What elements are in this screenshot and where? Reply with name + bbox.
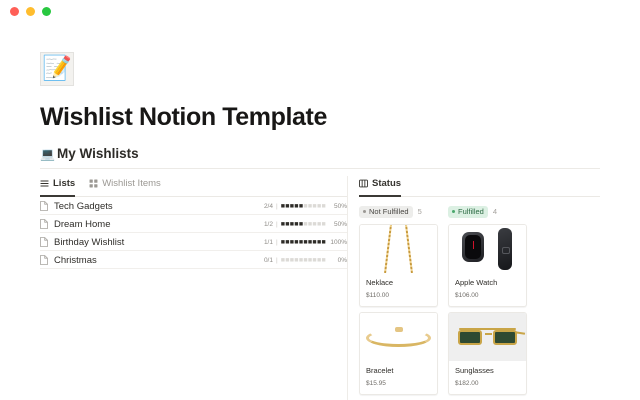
card-title: Neklace bbox=[366, 278, 431, 287]
progress-percent: 100% bbox=[329, 239, 347, 246]
page-content: 📝 Wishlist Notion Template 💻 My Wishlist… bbox=[0, 52, 640, 400]
product-illustration bbox=[449, 313, 526, 361]
board-card[interactable]: Apple Watch$106.00 bbox=[448, 224, 527, 307]
board-column-header[interactable]: Fulfilled4 bbox=[448, 205, 527, 218]
progress-separator: | bbox=[276, 239, 278, 246]
lists-tabbar: Lists Wishlist Items bbox=[40, 178, 347, 197]
product-illustration bbox=[360, 313, 437, 361]
page-doc-icon bbox=[40, 237, 54, 247]
progress-separator: | bbox=[276, 203, 278, 210]
status-badge: Not Fulfilled bbox=[359, 206, 413, 218]
table-row[interactable]: Dream Home1/2|■■■■■■■■■■50% bbox=[40, 219, 347, 233]
card-price: $15.95 bbox=[366, 380, 431, 387]
progress-fraction: 1/2 bbox=[259, 221, 273, 228]
card-body: Neklace$110.00 bbox=[360, 273, 437, 306]
card-price: $106.00 bbox=[455, 292, 520, 299]
progress-bar: ■■■■■■■■■■ bbox=[281, 239, 326, 246]
list-item-label: Birthday Wishlist bbox=[54, 237, 259, 248]
table-row[interactable]: Birthday Wishlist1/1|■■■■■■■■■■100% bbox=[40, 237, 347, 251]
progress-percent: 50% bbox=[329, 221, 347, 228]
card-image bbox=[360, 313, 437, 361]
tab-wishlist-items[interactable]: Wishlist Items bbox=[89, 178, 161, 192]
page-doc-icon bbox=[40, 219, 54, 229]
maximize-button[interactable] bbox=[42, 7, 51, 16]
card-image bbox=[449, 313, 526, 361]
card-price: $182.00 bbox=[455, 380, 520, 387]
list-item-label: Christmas bbox=[54, 255, 259, 266]
table-row[interactable]: Christmas0/1|■■■■■■■■■■0% bbox=[40, 255, 347, 269]
progress-fraction: 2/4 bbox=[259, 203, 273, 210]
progress-meta: 0/1|■■■■■■■■■■0% bbox=[259, 257, 347, 264]
progress-bar: ■■■■■■■■■■ bbox=[281, 257, 326, 264]
board-card[interactable]: Neklace$110.00 bbox=[359, 224, 438, 307]
tab-lists-label: Lists bbox=[53, 178, 75, 189]
board-card[interactable]: Sunglasses$182.00 bbox=[448, 312, 527, 395]
list-item-label: Tech Gadgets bbox=[54, 201, 259, 212]
page-emoji-icon[interactable]: 📝 bbox=[40, 52, 74, 86]
card-title: Sunglasses bbox=[455, 366, 520, 375]
board-column-count: 4 bbox=[493, 207, 497, 216]
tab-status-label: Status bbox=[372, 178, 401, 189]
lists-panel: Lists Wishlist Items bbox=[40, 178, 347, 400]
page-title: Wishlist Notion Template bbox=[40, 103, 600, 132]
status-panel: Status Not Fulfilled5Neklace$110.00Brace… bbox=[347, 178, 600, 400]
progress-separator: | bbox=[276, 257, 278, 264]
progress-fraction: 1/1 bbox=[259, 239, 273, 246]
progress-bar: ■■■■■■■■■■ bbox=[281, 203, 326, 210]
board-card-list: Apple Watch$106.00Sunglasses$182.00 bbox=[448, 224, 527, 400]
tab-status[interactable]: Status bbox=[359, 178, 401, 192]
tab-lists[interactable]: Lists bbox=[40, 178, 75, 192]
status-dot-icon bbox=[363, 210, 366, 213]
progress-percent: 0% bbox=[329, 257, 347, 264]
board-card[interactable]: Bracelet$15.95 bbox=[359, 312, 438, 395]
board-column: Fulfilled4Apple Watch$106.00Sunglasses$1… bbox=[448, 205, 527, 400]
status-tabbar: Status bbox=[359, 178, 600, 197]
progress-bar: ■■■■■■■■■■ bbox=[281, 221, 326, 228]
status-badge-label: Fulfilled bbox=[458, 207, 484, 216]
page-doc-icon bbox=[40, 255, 54, 265]
card-title: Apple Watch bbox=[455, 278, 520, 287]
status-badge: Fulfilled bbox=[448, 206, 488, 218]
board-column-count: 5 bbox=[418, 207, 422, 216]
card-price: $110.00 bbox=[366, 292, 431, 299]
section-heading-label: My Wishlists bbox=[57, 146, 139, 161]
product-illustration bbox=[360, 225, 437, 273]
card-body: Bracelet$15.95 bbox=[360, 361, 437, 394]
card-title: Bracelet bbox=[366, 366, 431, 375]
card-body: Sunglasses$182.00 bbox=[449, 361, 526, 394]
list-item-label: Dream Home bbox=[54, 219, 259, 230]
list-icon bbox=[40, 179, 49, 188]
card-image bbox=[360, 225, 437, 273]
card-image bbox=[449, 225, 526, 273]
table-row[interactable]: Tech Gadgets2/4|■■■■■■■■■■50% bbox=[40, 201, 347, 215]
card-body: Apple Watch$106.00 bbox=[449, 273, 526, 306]
board-card-list: Neklace$110.00Bracelet$15.95 bbox=[359, 224, 438, 400]
board-column-header[interactable]: Not Fulfilled5 bbox=[359, 205, 438, 218]
page-doc-icon bbox=[40, 201, 54, 211]
laptop-icon: 💻 bbox=[40, 147, 55, 161]
minimize-button[interactable] bbox=[26, 7, 35, 16]
close-button[interactable] bbox=[10, 7, 19, 16]
section-divider bbox=[40, 168, 600, 169]
board-icon bbox=[359, 179, 368, 188]
product-illustration bbox=[449, 225, 526, 273]
progress-fraction: 0/1 bbox=[259, 257, 273, 264]
progress-meta: 1/2|■■■■■■■■■■50% bbox=[259, 221, 347, 228]
status-board: Not Fulfilled5Neklace$110.00Bracelet$15.… bbox=[359, 205, 600, 400]
progress-meta: 2/4|■■■■■■■■■■50% bbox=[259, 203, 347, 210]
progress-meta: 1/1|■■■■■■■■■■100% bbox=[259, 239, 347, 246]
grid-icon bbox=[89, 179, 98, 188]
status-badge-label: Not Fulfilled bbox=[369, 207, 409, 216]
tab-wishlist-items-label: Wishlist Items bbox=[102, 178, 161, 189]
progress-separator: | bbox=[276, 221, 278, 228]
section-heading: 💻 My Wishlists bbox=[40, 146, 600, 161]
status-dot-icon bbox=[452, 210, 455, 213]
window-titlebar bbox=[0, 0, 640, 22]
board-column: Not Fulfilled5Neklace$110.00Bracelet$15.… bbox=[359, 205, 438, 400]
panes-container: Lists Wishlist Items bbox=[40, 178, 600, 400]
progress-percent: 50% bbox=[329, 203, 347, 210]
wishlist-rows: Tech Gadgets2/4|■■■■■■■■■■50%Dream Home1… bbox=[40, 201, 347, 269]
